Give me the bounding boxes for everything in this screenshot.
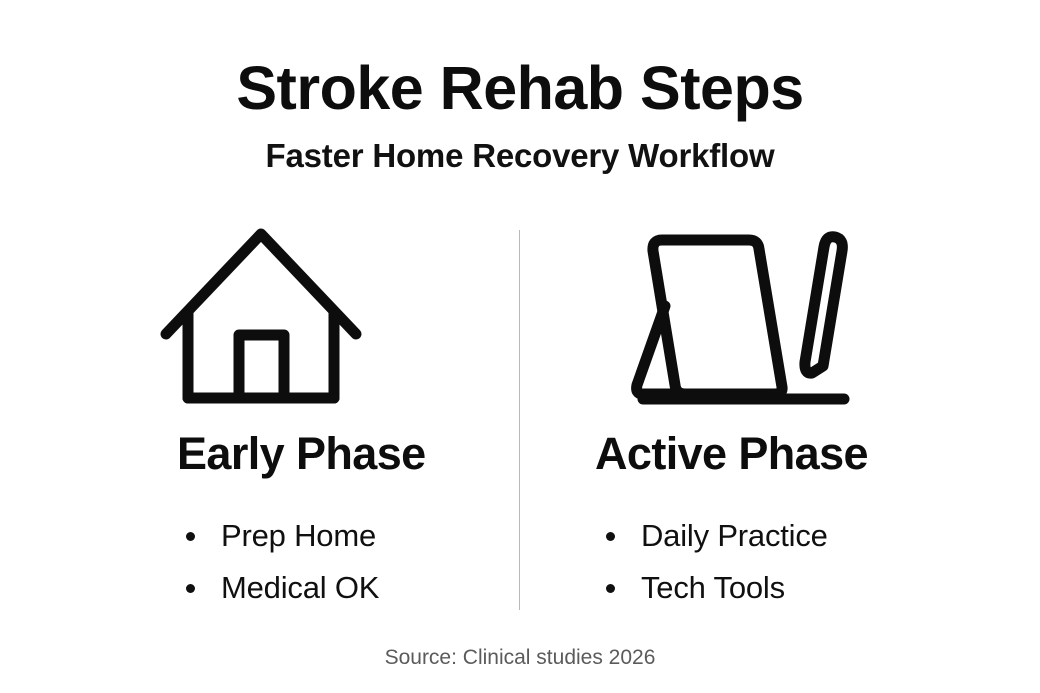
house-icon [160,222,420,407]
list-item-label: Medical OK [221,570,379,605]
list-item: Daily Practice [606,510,828,562]
list-item: Tech Tools [606,562,828,614]
header-block: Stroke Rehab Steps Faster Home Recovery … [0,52,1040,176]
page-subtitle: Faster Home Recovery Workflow [0,124,1040,176]
column-divider [519,230,520,610]
bullet-list-early-phase: Prep Home Medical OK [186,510,379,614]
list-item-label: Prep Home [221,518,376,553]
bullet-dot-icon [606,584,615,593]
page-title: Stroke Rehab Steps [0,52,1040,124]
slide-canvas: Stroke Rehab Steps Faster Home Recovery … [0,0,1040,693]
column-active-phase: Active Phase Daily Practice Tech Tools [530,222,1030,618]
phase-heading: Active Phase [595,427,868,481]
bullet-list-active-phase: Daily Practice Tech Tools [606,510,828,614]
bullet-dot-icon [606,532,615,541]
columns-container: Early Phase Prep Home Medical OK [0,222,1040,618]
bullet-dot-icon [186,584,195,593]
tablet-stylus-icon [612,222,872,407]
list-item-label: Daily Practice [641,518,828,553]
column-early-phase: Early Phase Prep Home Medical OK [10,222,510,618]
bullet-dot-icon [186,532,195,541]
list-item: Medical OK [186,562,379,614]
list-item: Prep Home [186,510,379,562]
phase-heading: Early Phase [177,427,426,481]
list-item-label: Tech Tools [641,570,785,605]
source-caption: Source: Clinical studies 2026 [0,645,1040,671]
